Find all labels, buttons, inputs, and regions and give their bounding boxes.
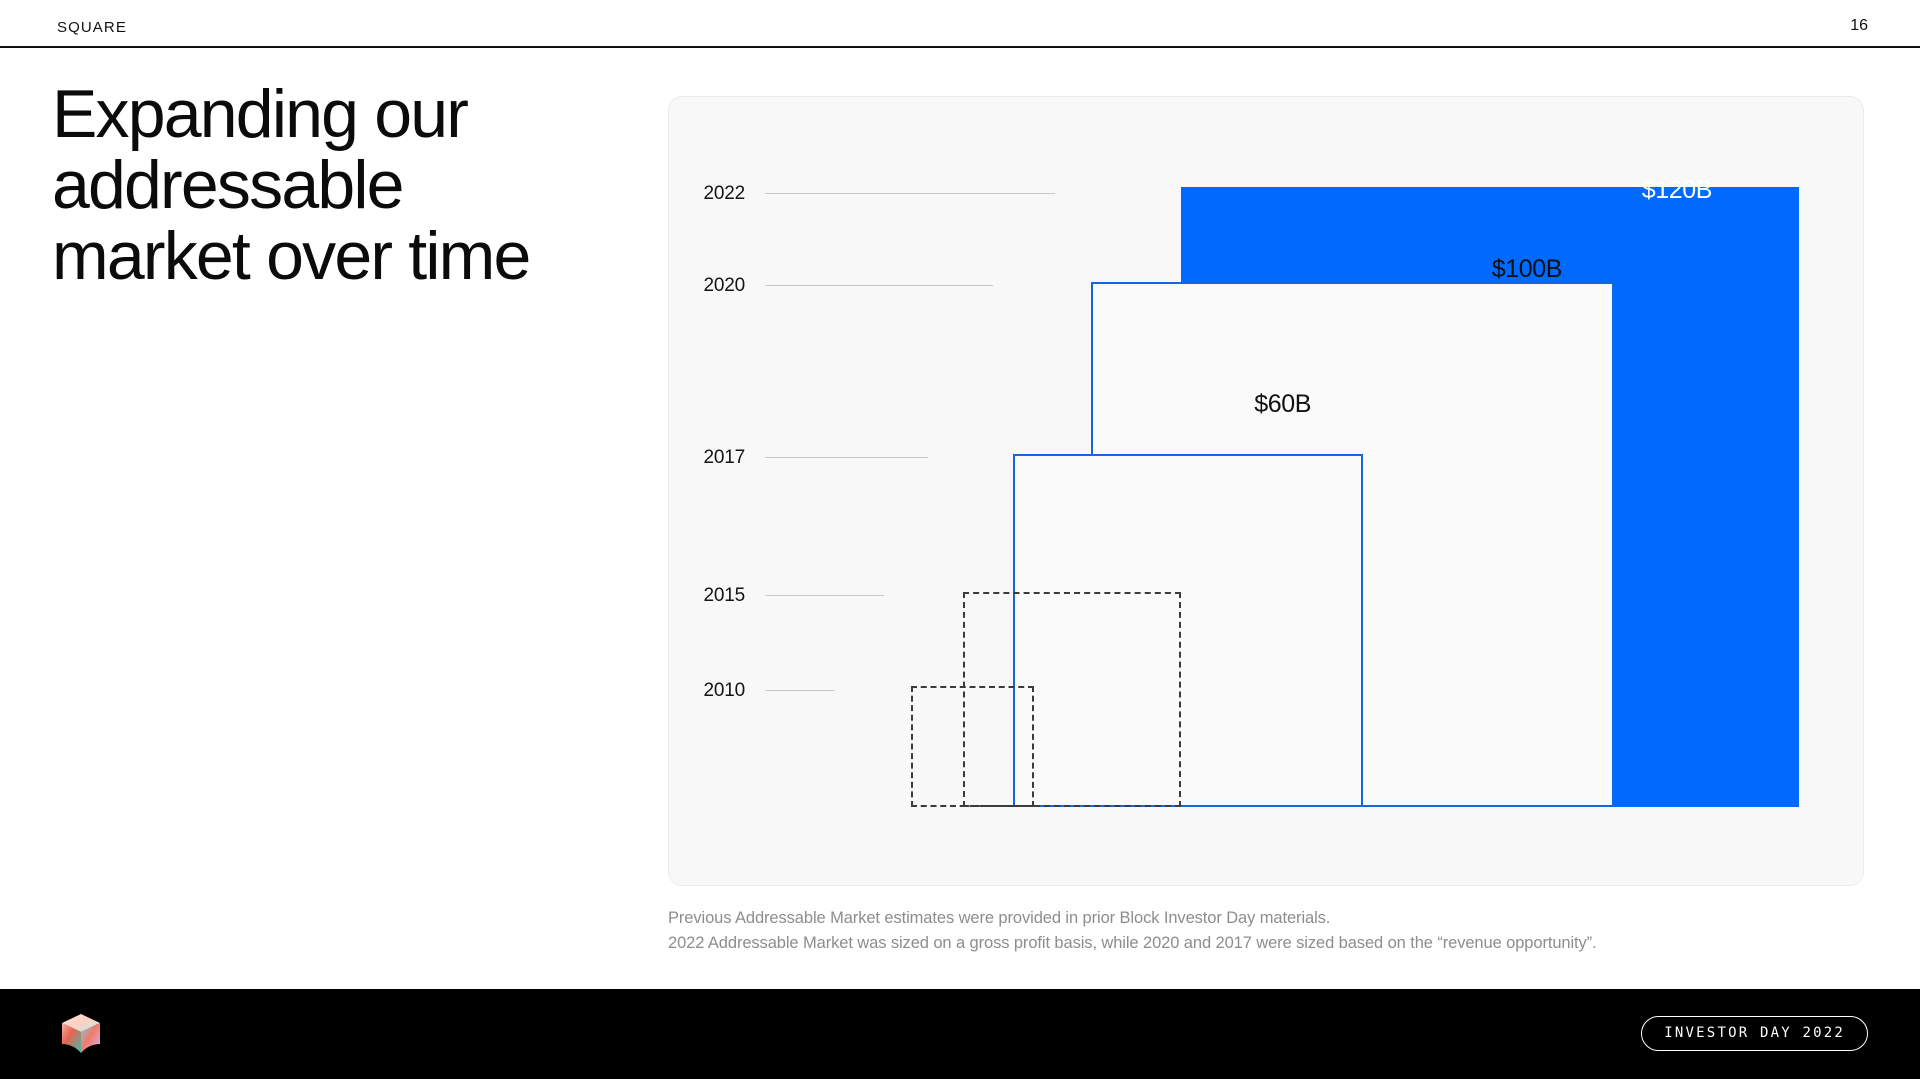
axis-tick-2015: 2015 bbox=[669, 587, 884, 607]
value-label-2020: $100B bbox=[1492, 255, 1562, 284]
axis-tick-2017: 2017 bbox=[669, 449, 928, 469]
page-title-line-3: market over time bbox=[52, 221, 632, 292]
footnotes: Previous Addressable Market estimates we… bbox=[668, 906, 1868, 956]
axis-tick-label-2017: 2017 bbox=[669, 447, 745, 469]
axis-tick-label-2022: 2022 bbox=[669, 183, 745, 205]
brand-name: SQUARE bbox=[57, 19, 127, 36]
page-number: 16 bbox=[1850, 17, 1868, 35]
footnote-line-2: 2022 Addressable Market was sized on a g… bbox=[668, 931, 1868, 956]
page-footer: INVESTOR DAY 2022 bbox=[0, 989, 1920, 1079]
chart-panel: 2022 2020 2017 2015 2010 $120B $100B bbox=[668, 96, 1864, 886]
footnote-line-1: Previous Addressable Market estimates we… bbox=[668, 906, 1868, 931]
investor-day-badge: INVESTOR DAY 2022 bbox=[1641, 1016, 1868, 1051]
leader-line-2017 bbox=[765, 457, 928, 458]
page-title: Expanding our addressable market over ti… bbox=[52, 79, 632, 292]
page-header: SQUARE 16 bbox=[0, 0, 1920, 48]
leader-line-2015 bbox=[765, 595, 884, 596]
axis-tick-2020: 2020 bbox=[669, 277, 993, 297]
bar-2010 bbox=[911, 686, 1034, 807]
leader-line-2022 bbox=[765, 193, 1055, 194]
value-label-2022: $120B bbox=[1642, 176, 1712, 205]
axis-tick-label-2020: 2020 bbox=[669, 275, 745, 297]
page-title-line-1: Expanding our bbox=[52, 79, 632, 150]
page-title-line-2: addressable bbox=[52, 150, 632, 221]
leader-line-2020 bbox=[765, 285, 993, 286]
axis-tick-label-2010: 2010 bbox=[669, 680, 745, 702]
nested-bar-chart: 2022 2020 2017 2015 2010 $120B $100B bbox=[669, 97, 1863, 885]
leader-line-2010 bbox=[765, 690, 835, 691]
block-cube-logo-icon bbox=[58, 1011, 104, 1057]
axis-tick-label-2015: 2015 bbox=[669, 585, 745, 607]
value-label-2017: $60B bbox=[1254, 390, 1311, 419]
axis-tick-2022: 2022 bbox=[669, 185, 1055, 205]
axis-tick-2010: 2010 bbox=[669, 682, 835, 702]
